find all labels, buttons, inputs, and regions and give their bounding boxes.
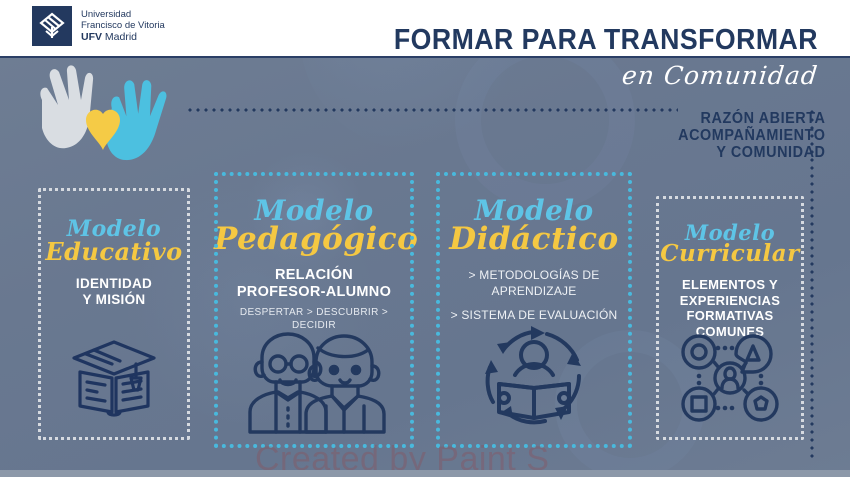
card-light-line: APRENDIZAJE [444,283,624,299]
card-body: > METODOLOGÍAS DE APRENDIZAJE > SISTEMA … [436,267,632,323]
card-body: ELEMENTOS Y EXPERIENCIAS FORMATIVAS COMU… [656,277,804,339]
tagline-line-3: Y COMUNIDAD [679,144,826,161]
reading-cycle-icon [436,322,632,434]
ufv-diamond-logo-icon [32,6,72,46]
hands-heart-illustration [28,62,193,162]
card-strong-line: RELACIÓN [222,267,406,284]
card-script-bottom: Didáctico [436,221,632,257]
logo-line-3: UFV Madrid [81,32,165,44]
card-script-bottom: Curricular [656,240,804,267]
card-strong-line: PROFESOR-ALUMNO [222,284,406,301]
professor-student-icon [214,328,414,438]
card-strong-line: ELEMENTOS Y [664,277,796,293]
card-modelo-didactico[interactable]: Modelo Didáctico > METODOLOGÍAS DE APREN… [436,172,632,448]
tagline-line-1: RAZÓN ABIERTA [679,110,826,127]
card-body: IDENTIDAD Y MISIÓN [38,276,190,308]
tagline-line-2: ACOMPAÑAMIENTO [679,127,826,144]
card-light-line: > SISTEMA DE EVALUACIÓN [444,307,624,323]
bottom-strip [0,470,850,477]
logo-line-1: Universidad [81,9,165,21]
infographic-poster: Universidad Francisco de Vitoria UFV Mad… [0,0,850,477]
network-nodes-icon [656,332,804,424]
card-light-line: > METODOLOGÍAS DE [444,267,624,283]
page-subtitle: en Comunidad [356,61,820,90]
hand-icon [40,65,93,148]
card-script-bottom: Educativo [38,237,190,266]
card-strong-line: IDENTIDAD [46,276,182,292]
title-block: FORMAR PARA TRANSFORMAR en Comunidad [357,24,818,90]
ufv-logo-text: Universidad Francisco de Vitoria UFV Mad… [81,9,165,44]
card-script-bottom: Pedagógico [214,221,414,257]
page-title: FORMAR PARA TRANSFORMAR [394,24,818,57]
card-modelo-curricular[interactable]: Modelo Curricular ELEMENTOS Y EXPERIENCI… [656,196,804,440]
dotted-connector-horizontal [186,108,678,112]
card-strong-line: FORMATIVAS [664,308,796,324]
card-strong-line: Y MISIÓN [46,292,182,308]
ufv-logo: Universidad Francisco de Vitoria UFV Mad… [32,6,165,46]
card-strong-line: EXPERIENCIAS [664,293,796,309]
graduation-cap-book-icon [38,336,190,418]
card-modelo-educativo[interactable]: Modelo Educativo IDENTIDAD Y MISIÓN [38,188,190,440]
card-body: RELACIÓN PROFESOR-ALUMNO DESPERTAR > DES… [214,267,414,332]
card-modelo-pedagogico[interactable]: Modelo Pedagógico RELACIÓN PROFESOR-ALUM… [214,172,414,448]
tagline: RAZÓN ABIERTA ACOMPAÑAMIENTO Y COMUNIDAD [679,110,826,161]
